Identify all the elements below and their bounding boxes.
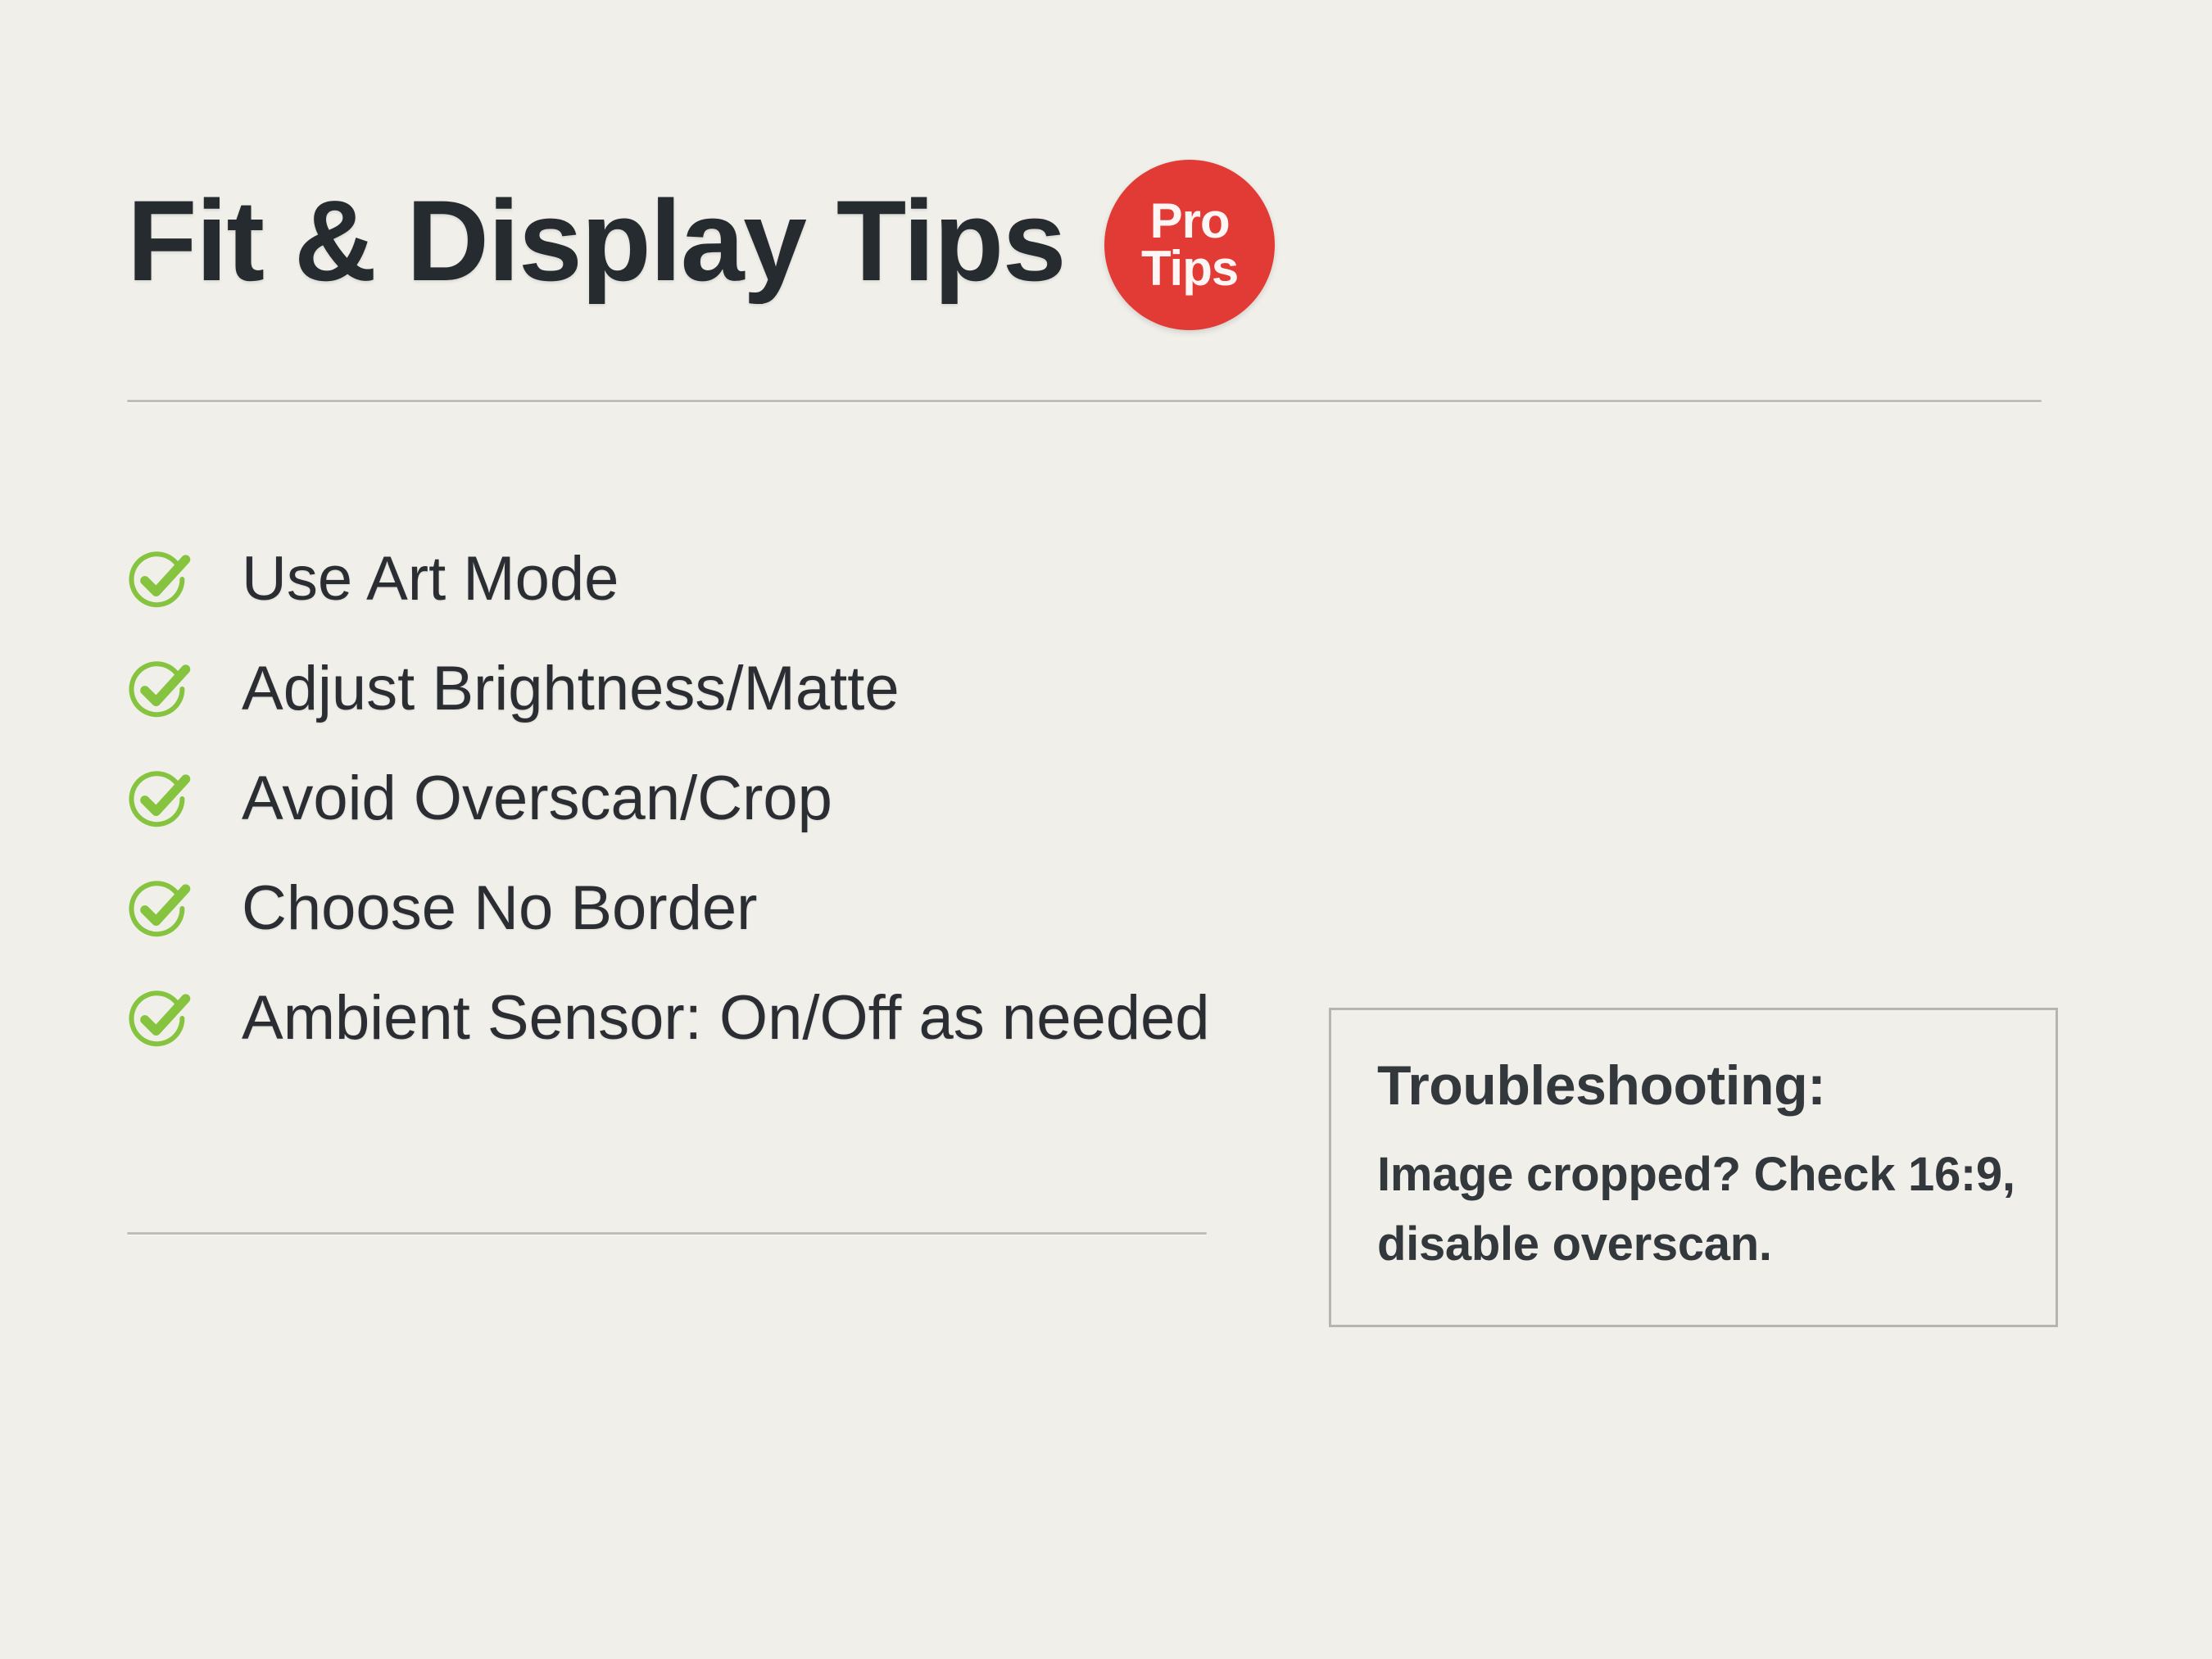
list-item-label: Avoid Overscan/Crop	[242, 768, 832, 830]
divider-bottom	[127, 1232, 1207, 1235]
check-circle-icon	[124, 873, 194, 944]
slide-header: Fit & Display Tips Pro Tips	[127, 152, 1275, 330]
list-item-label: Choose No Border	[242, 877, 757, 940]
tips-checklist: Use Art Mode Adjust Brightness/Matte Avo…	[127, 524, 1210, 1073]
list-item: Choose No Border	[127, 854, 1210, 963]
check-circle-icon	[124, 764, 194, 834]
list-item-label: Use Art Mode	[242, 548, 619, 610]
page-title: Fit & Display Tips	[127, 184, 1065, 298]
list-item: Ambient Sensor: On/Off as needed	[127, 963, 1210, 1073]
list-item-label: Ambient Sensor: On/Off as needed	[242, 987, 1210, 1049]
check-circle-icon	[124, 654, 194, 724]
pro-tips-badge-icon: Pro Tips	[1104, 160, 1275, 330]
list-item: Avoid Overscan/Crop	[127, 744, 1210, 854]
troubleshooting-body: Image cropped? Check 16:9, disable overs…	[1377, 1140, 2024, 1279]
check-circle-icon	[124, 983, 194, 1054]
badge-line-2: Tips	[1141, 245, 1238, 292]
badge-line-1: Pro	[1150, 197, 1230, 245]
list-item-label: Adjust Brightness/Matte	[242, 658, 900, 720]
troubleshooting-title: Troubleshooting:	[1377, 1058, 2056, 1113]
check-circle-icon	[124, 544, 194, 614]
troubleshooting-callout: Troubleshooting: Image cropped? Check 16…	[1329, 1008, 2058, 1327]
slide-canvas: Fit & Display Tips Pro Tips Use Art Mode…	[0, 0, 2212, 1659]
list-item: Use Art Mode	[127, 524, 1210, 634]
divider-top	[127, 400, 2042, 402]
list-item: Adjust Brightness/Matte	[127, 634, 1210, 744]
